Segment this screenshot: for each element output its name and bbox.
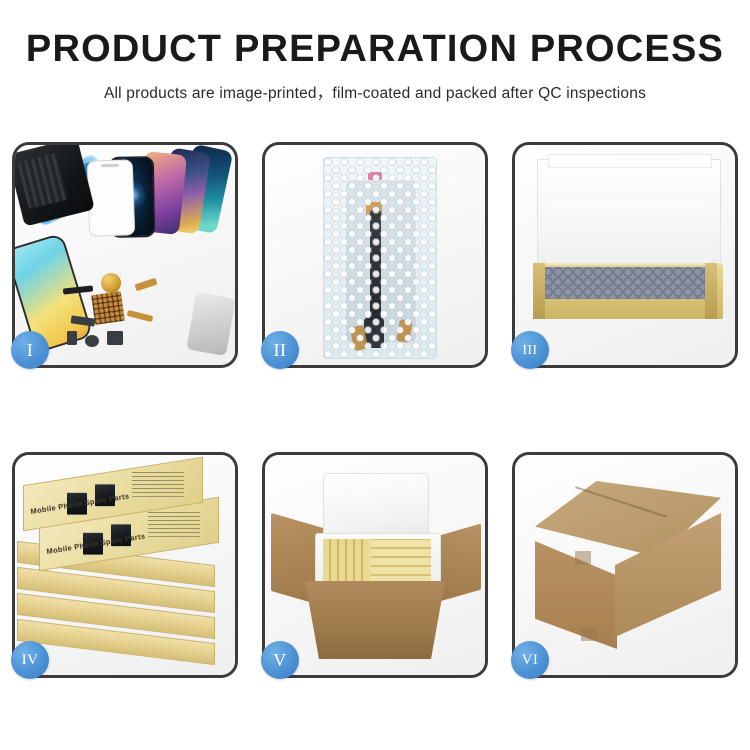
- step-3-badge: III: [511, 331, 549, 369]
- box-spec-lines-1: [132, 471, 184, 497]
- foam-box-lid-icon: [323, 473, 429, 537]
- step-panel-4[interactable]: Mobile Phone Spare Parts Mobile Phone Sp…: [12, 452, 238, 678]
- kraft-tray-icon: [533, 263, 723, 319]
- step-panel-1[interactable]: I: [12, 142, 238, 368]
- outer-carton-icon: [305, 581, 445, 659]
- step-4-image: Mobile Phone Spare Parts Mobile Phone Sp…: [15, 455, 235, 675]
- white-frame-phone-icon: [87, 159, 136, 237]
- step-1-badge: I: [11, 331, 49, 369]
- bubble-texture-icon: [324, 158, 436, 358]
- box-spec-lines-2: [148, 511, 200, 537]
- step-panel-3[interactable]: III: [512, 142, 738, 368]
- step-2-image: [265, 145, 485, 365]
- tray-corner-left-icon: [533, 263, 545, 319]
- small-part-c-icon: [85, 335, 99, 347]
- foam-tray-scene: [515, 145, 735, 365]
- product-preparation-infographic: PRODUCT PREPARATION PROCESS All products…: [0, 0, 750, 750]
- bubble-wrap-scene: [265, 145, 485, 365]
- white-foam-sheet-icon: [545, 193, 711, 265]
- step-6-image: [515, 455, 735, 675]
- step-5-badge: V: [261, 641, 299, 679]
- steps-grid: I II: [12, 142, 738, 714]
- step-2-badge: II: [261, 331, 299, 369]
- small-part-b-icon: [67, 331, 77, 345]
- step-1-image: [15, 145, 235, 365]
- step-5-image: [265, 455, 485, 675]
- step-6-badge: VI: [511, 641, 549, 679]
- packed-retail-boxes-icon: [323, 539, 431, 583]
- step-3-image: [515, 145, 735, 365]
- sealed-carton-scene: [515, 455, 735, 675]
- grey-foam-padding-icon: [543, 267, 713, 299]
- step-panel-2[interactable]: II: [262, 142, 488, 368]
- speaker-coil-icon: [101, 273, 121, 293]
- carton-tape-upper-icon: [575, 551, 591, 565]
- repair-tool-icon: [186, 292, 235, 356]
- retail-box-stack-scene: Mobile Phone Spare Parts Mobile Phone Sp…: [15, 455, 235, 675]
- header: PRODUCT PREPARATION PROCESS All products…: [0, 0, 750, 103]
- carton-tape-lower-icon: [581, 627, 597, 641]
- bubble-wrap-bag-icon: [323, 157, 437, 359]
- page-subtitle: All products are image-printed，film-coat…: [0, 81, 750, 103]
- step-panel-6[interactable]: VI: [512, 452, 738, 678]
- small-part-d-icon: [107, 331, 123, 345]
- step-panel-5[interactable]: V: [262, 452, 488, 678]
- page-title: PRODUCT PREPARATION PROCESS: [0, 30, 750, 70]
- small-part-e-icon: [127, 310, 154, 322]
- tray-corner-right-icon: [705, 263, 717, 319]
- flex-cable-icon: [134, 278, 157, 291]
- carton-loading-scene: [265, 455, 485, 675]
- step-4-badge: IV: [11, 641, 49, 679]
- chip-grid-icon: [91, 291, 125, 325]
- phones-and-parts-scene: [15, 145, 235, 365]
